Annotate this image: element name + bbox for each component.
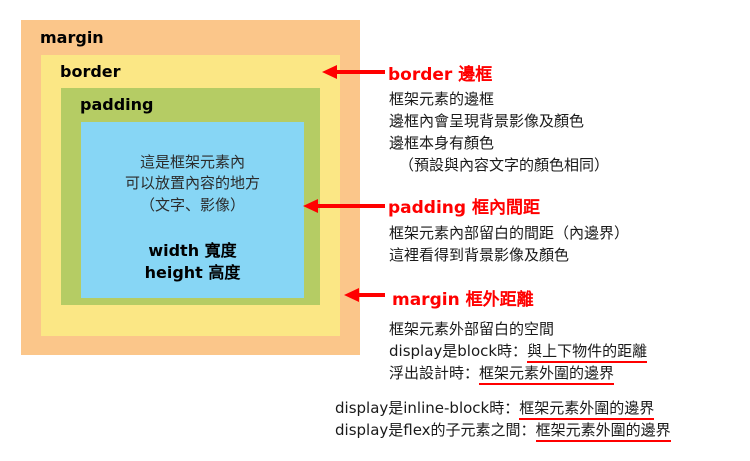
content-description: 這是框架元素內 可以放置內容的地方 （文字、影像） (81, 152, 304, 216)
margin-box-label: margin (40, 28, 104, 47)
content-description-line-3: （文字、影像） (81, 195, 304, 216)
content-dimensions: width 寬度 height 高度 (81, 240, 304, 284)
margin-annotation-line-2: display是block時：與上下物件的距離 (389, 340, 647, 362)
margin-line-4-emphasis: 框架元素外圍的邊界 (519, 399, 654, 420)
border-annotation-line-1: 框架元素的邊框 (389, 88, 609, 110)
content-width-label: width 寬度 (81, 240, 304, 262)
content-description-line-2: 可以放置內容的地方 (81, 173, 304, 194)
margin-annotation-line-5: display是flex的子元素之間：框架元素外圍的邊界 (335, 419, 671, 441)
border-box-label: border (60, 62, 121, 81)
margin-annotation-extra-body: display是inline-block時：框架元素外圍的邊界 display是… (335, 397, 671, 441)
margin-annotation-heading: margin 框外距離 (392, 285, 534, 310)
arrow-shaft (357, 293, 385, 297)
content-description-line-1: 這是框架元素內 (81, 152, 304, 173)
border-annotation-line-2: 邊框內會呈現背景影像及顏色 (389, 110, 609, 132)
box-model-diagram: margin border padding 這是框架元素內 可以放置內容的地方 … (21, 20, 360, 355)
margin-line-3-emphasis: 框架元素外圍的邊界 (479, 364, 614, 385)
padding-annotation-line-2: 這裡看得到背景影像及顏色 (389, 244, 629, 266)
border-annotation-line-4: （預設與內容文字的顏色相同） (389, 154, 609, 176)
margin-line-4-prefix: display是inline-block時： (335, 399, 519, 417)
padding-annotation-line-1: 框架元素內部留白的間距（內邊界） (389, 222, 629, 244)
border-annotation-heading: border 邊框 (388, 60, 492, 85)
margin-annotation-line-3: 浮出設計時：框架元素外圍的邊界 (389, 362, 647, 384)
padding-annotation-body: 框架元素內部留白的間距（內邊界） 這裡看得到背景影像及顏色 (389, 222, 629, 266)
margin-line-5-emphasis: 框架元素外圍的邊界 (536, 421, 671, 442)
margin-line-2-emphasis: 與上下物件的距離 (527, 342, 647, 363)
padding-annotation-heading: padding 框內間距 (388, 193, 540, 218)
margin-line-5-prefix: display是flex的子元素之間： (335, 421, 536, 439)
margin-line-3-prefix: 浮出設計時： (389, 364, 479, 382)
content-box: 這是框架元素內 可以放置內容的地方 （文字、影像） width 寬度 heigh… (81, 122, 304, 298)
padding-box-label: padding (80, 95, 153, 114)
margin-annotation-line-4: display是inline-block時：框架元素外圍的邊界 (335, 397, 671, 419)
margin-annotation-body: 框架元素外部留白的空間 display是block時：與上下物件的距離 浮出設計… (389, 318, 647, 384)
content-height-label: height 高度 (81, 262, 304, 284)
border-annotation-line-3: 邊框本身有顏色 (389, 132, 609, 154)
margin-annotation-line-1: 框架元素外部留白的空間 (389, 318, 647, 340)
border-annotation-body: 框架元素的邊框 邊框內會呈現背景影像及顏色 邊框本身有顏色 （預設與內容文字的顏… (389, 88, 609, 176)
margin-line-2-prefix: display是block時： (389, 342, 527, 360)
